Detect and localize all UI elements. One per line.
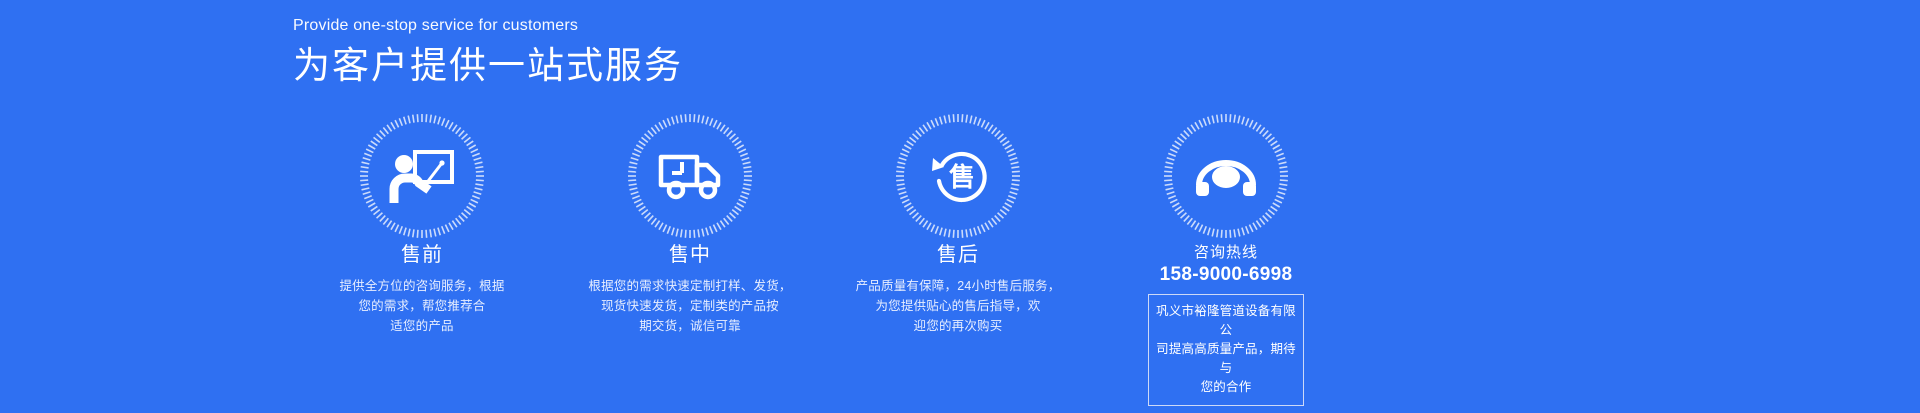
hotline-number[interactable]: 158-9000-6998 — [1160, 263, 1293, 287]
service-column-presale[interactable]: 售前 提供全方位的咨询服务，根据 您的需求，帮您推荐合 适您的产品 — [288, 112, 556, 406]
insale-icon-wrap — [626, 112, 754, 240]
service-column-aftersale[interactable]: 售 售后 产品质量有保障，24小时售后服务， 为您提供贴心的售后指导，欢 迎您的… — [824, 112, 1092, 406]
presenter-whiteboard-icon — [389, 143, 455, 209]
service-columns: 售前 提供全方位的咨询服务，根据 您的需求，帮您推荐合 适您的产品 — [288, 112, 1558, 406]
aftersale-desc-line-2: 为您提供贴心的售后指导，欢 — [856, 296, 1061, 316]
company-note-line-3: 您的合作 — [1155, 378, 1297, 397]
after-sales-refresh-icon: 售 — [925, 143, 991, 209]
insale-desc-line-3: 期交货，诚信可靠 — [588, 316, 791, 336]
hotline-title: 咨询热线 — [1194, 242, 1258, 263]
presale-desc: 提供全方位的咨询服务，根据 您的需求，帮您推荐合 适您的产品 — [339, 276, 504, 336]
insale-desc-line-1: 根据您的需求快速定制打样、发货， — [588, 276, 791, 296]
company-note-box: 巩义市裕隆管道设备有限公 司提高高质量产品，期待与 您的合作 — [1148, 294, 1304, 406]
service-column-hotline[interactable]: 咨询热线 158-9000-6998 巩义市裕隆管道设备有限公 司提高高质量产品… — [1092, 112, 1360, 406]
delivery-truck-clock-icon — [657, 143, 723, 209]
aftersale-desc-line-3: 迎您的再次购买 — [856, 316, 1061, 336]
presale-desc-line-2: 您的需求，帮您推荐合 — [339, 296, 504, 316]
telephone-icon — [1193, 143, 1259, 209]
aftersale-desc-line-1: 产品质量有保障，24小时售后服务， — [856, 276, 1061, 296]
company-note-line-1: 巩义市裕隆管道设备有限公 — [1155, 302, 1297, 340]
presale-desc-line-1: 提供全方位的咨询服务，根据 — [339, 276, 504, 296]
presale-desc-line-3: 适您的产品 — [339, 316, 504, 336]
aftersale-title: 售后 — [937, 242, 979, 268]
presale-icon-wrap — [358, 112, 486, 240]
svg-text:售: 售 — [949, 162, 975, 192]
hotline-icon-wrap — [1162, 112, 1290, 240]
insale-desc-line-2: 现货快速发货，定制类的产品按 — [588, 296, 791, 316]
insale-desc: 根据您的需求快速定制打样、发货， 现货快速发货，定制类的产品按 期交货，诚信可靠 — [588, 276, 791, 336]
aftersale-desc: 产品质量有保障，24小时售后服务， 为您提供贴心的售后指导，欢 迎您的再次购买 — [856, 276, 1061, 336]
insale-title: 售中 — [669, 242, 711, 268]
presale-title: 售前 — [401, 242, 443, 268]
promo-banner: Provide one-stop service for customers 为… — [0, 0, 1920, 413]
banner-header: Provide one-stop service for customers 为… — [293, 16, 683, 90]
aftersale-icon-wrap: 售 — [894, 112, 1022, 240]
banner-eyebrow: Provide one-stop service for customers — [293, 16, 683, 36]
banner-headline: 为客户提供一站式服务 — [293, 42, 683, 90]
service-column-insale[interactable]: 售中 根据您的需求快速定制打样、发货， 现货快速发货，定制类的产品按 期交货，诚… — [556, 112, 824, 406]
company-note-line-2: 司提高高质量产品，期待与 — [1155, 340, 1297, 378]
